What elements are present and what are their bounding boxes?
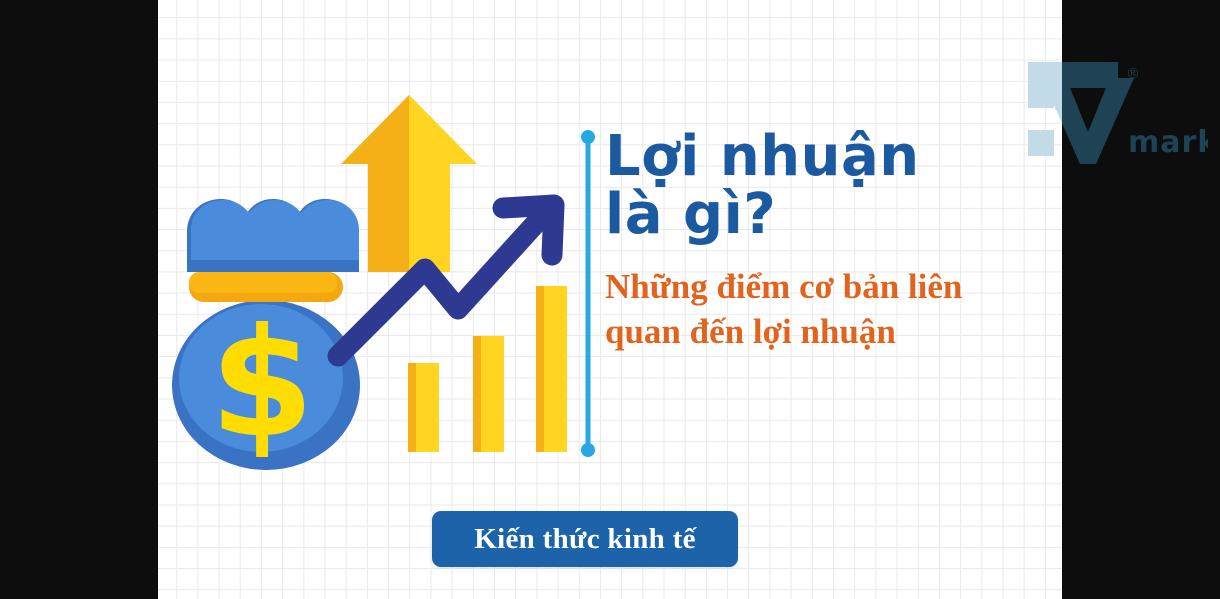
upward-growth-arrow-icon bbox=[341, 95, 477, 272]
grid-paper-canvas: $ bbox=[158, 0, 1062, 599]
bar-1 bbox=[408, 363, 439, 452]
banner-stage: $ bbox=[0, 0, 1220, 599]
page-title: Lợi nhuận là gì? bbox=[605, 128, 1045, 243]
svg-text:$: $ bbox=[210, 297, 314, 471]
page-subtitle: Những điểm cơ bản liên quan đến lợi nhuậ… bbox=[605, 265, 1045, 355]
category-tag-button[interactable]: Kiến thức kinh tế bbox=[432, 511, 738, 567]
bar-3 bbox=[536, 286, 567, 452]
vertical-cyan-divider bbox=[581, 130, 595, 457]
right-letterbox-bar bbox=[1062, 0, 1220, 599]
bar-2 bbox=[473, 336, 504, 452]
dollar-sign-glyph: $ bbox=[210, 297, 314, 471]
text-column: Lợi nhuận là gì? Những điểm cơ bản liên … bbox=[605, 128, 1045, 355]
left-letterbox-bar bbox=[0, 0, 158, 599]
money-bag-icon: $ bbox=[172, 199, 360, 471]
ascending-bar-chart bbox=[408, 286, 567, 452]
